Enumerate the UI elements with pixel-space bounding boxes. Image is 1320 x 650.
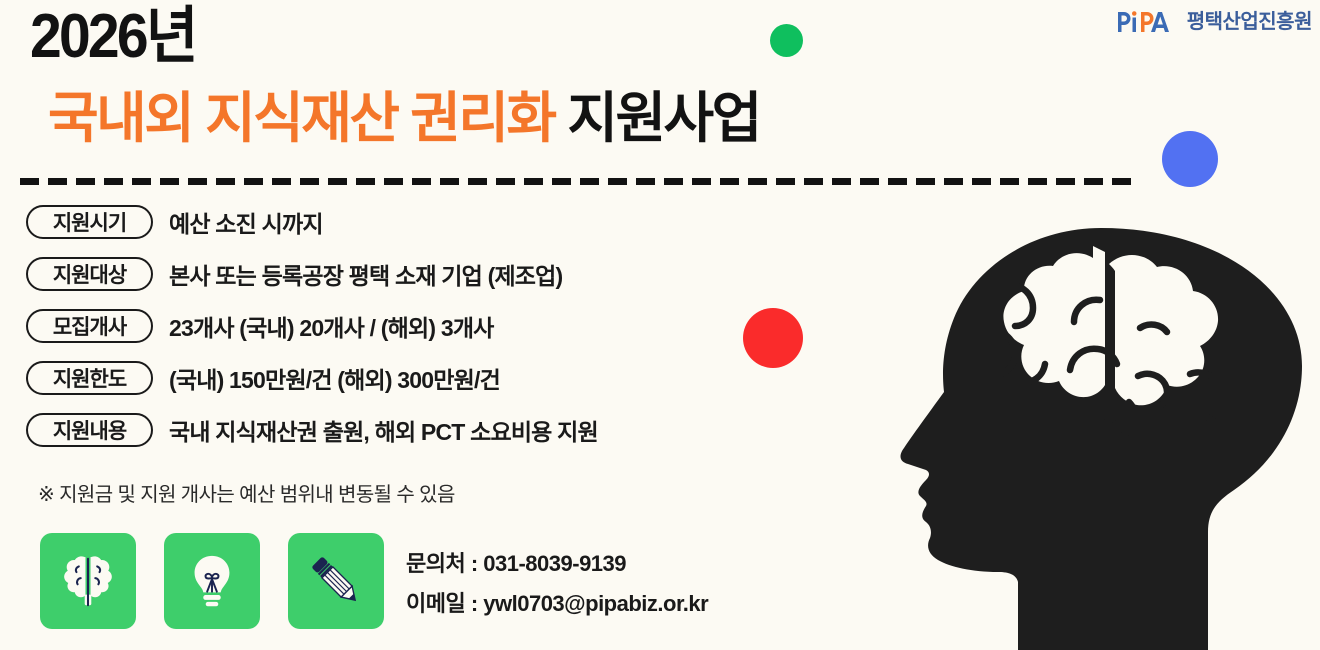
icon-tile-lightbulb	[164, 533, 260, 629]
contact-email: 이메일 : ywl0703@pipabiz.or.kr	[406, 586, 708, 618]
info-value: (국내) 150만원/건 (해외) 300만원/건	[169, 361, 500, 395]
icon-tile-strip	[40, 533, 384, 629]
info-row: 지원한도 (국내) 150만원/건 (해외) 300만원/건	[26, 359, 786, 397]
icon-tile-brain	[40, 533, 136, 629]
poster-canvas: 평택산업진흥원 2026년 국내외 지식재산 권리화 지원사업 지원시기 예산 …	[0, 0, 1320, 650]
info-note: ※ 지원금 및 지원 개사는 예산 범위내 변동될 수 있음	[38, 478, 455, 507]
lightbulb-icon	[181, 550, 243, 612]
info-row: 지원시기 예산 소진 시까지	[26, 203, 786, 241]
info-value: 23개사 (국내) 20개사 / (해외) 3개사	[169, 309, 494, 343]
contact-phone: 문의처 : 031-8039-9139	[406, 546, 708, 578]
headline-main: 국내외 지식재산 권리화 지원사업	[48, 88, 760, 149]
info-row: 지원내용 국내 지식재산권 출원, 해외 PCT 소요비용 지원	[26, 411, 786, 449]
dashed-divider	[20, 178, 1132, 185]
headline-year: 2026년	[30, 4, 196, 69]
info-label-badge: 모집개사	[26, 309, 153, 343]
brain-icon	[57, 550, 119, 612]
pencil-icon	[305, 550, 367, 612]
pipa-logo: 평택산업진흥원	[1116, 6, 1312, 38]
logo-organization-name: 평택산업진흥원	[1187, 12, 1312, 32]
info-list: 지원시기 예산 소진 시까지 지원대상 본사 또는 등록공장 평택 소재 기업 …	[26, 203, 786, 463]
info-label-badge: 지원대상	[26, 257, 153, 291]
icon-tile-pencil	[288, 533, 384, 629]
info-value: 본사 또는 등록공장 평택 소재 기업 (제조업)	[169, 257, 562, 291]
blue-circle-decoration	[1162, 131, 1218, 187]
info-label-badge: 지원한도	[26, 361, 153, 395]
pipa-wordmark-icon	[1116, 9, 1178, 35]
green-circle-decoration	[770, 24, 803, 57]
info-label-badge: 지원시기	[26, 205, 153, 239]
info-row: 지원대상 본사 또는 등록공장 평택 소재 기업 (제조업)	[26, 255, 786, 293]
info-value: 예산 소진 시까지	[169, 205, 323, 239]
head-with-brain-silhouette	[888, 214, 1318, 650]
info-label-badge: 지원내용	[26, 413, 153, 447]
info-row: 모집개사 23개사 (국내) 20개사 / (해외) 3개사	[26, 307, 786, 345]
contact-block: 문의처 : 031-8039-9139 이메일 : ywl0703@pipabi…	[406, 546, 708, 618]
headline-highlight: 국내외 지식재산 권리화	[48, 87, 555, 149]
info-value: 국내 지식재산권 출원, 해외 PCT 소요비용 지원	[169, 413, 598, 447]
headline-rest: 지원사업	[555, 87, 760, 149]
